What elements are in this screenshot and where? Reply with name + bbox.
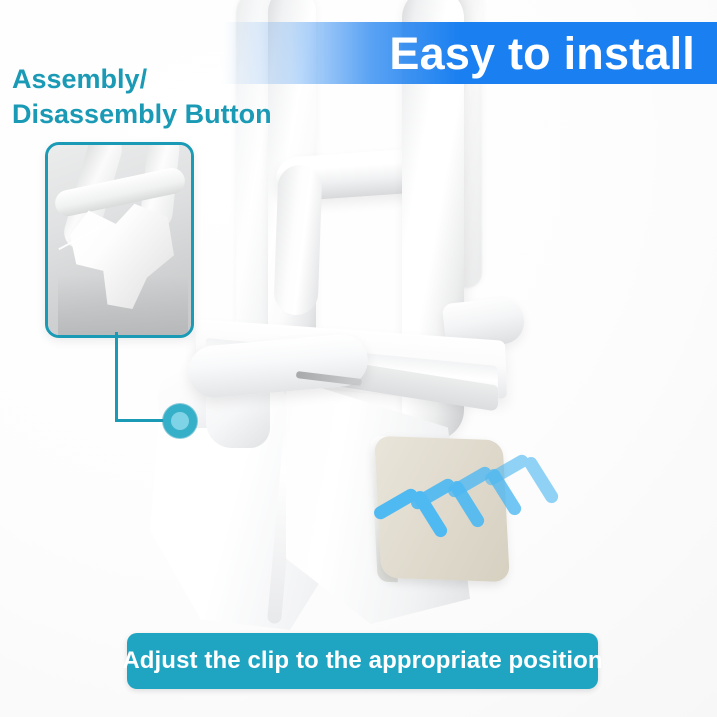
caption-bar: Adjust the clip to the appropriate posit… — [127, 633, 598, 689]
banner-text: Easy to install — [389, 31, 695, 76]
headline-banner: Easy to install — [222, 22, 717, 84]
crossbar-elbow — [273, 164, 322, 315]
feature-label-line1: Assembly/ — [12, 62, 272, 97]
caption-text: Adjust the clip to the appropriate posit… — [122, 647, 602, 675]
detail-callout-box — [45, 142, 194, 338]
callout-target-dot — [163, 404, 197, 438]
feature-label-line2: Disassembly Button — [12, 97, 272, 132]
feature-graphic: Easy to install Assembly/ Disassembly Bu… — [0, 0, 717, 717]
feature-label: Assembly/ Disassembly Button — [12, 62, 272, 131]
callout-connector-vertical — [115, 332, 118, 422]
